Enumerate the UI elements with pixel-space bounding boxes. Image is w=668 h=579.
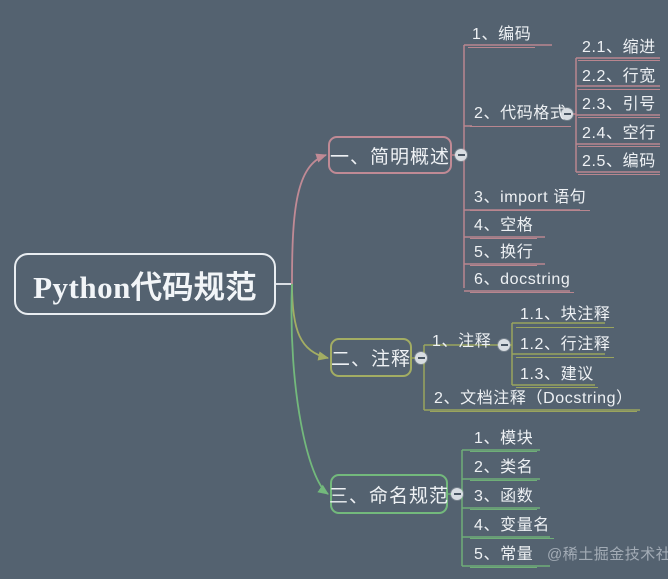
leaf-b3-1[interactable]: 1、模块 xyxy=(470,430,537,452)
leaf-b2-1-3[interactable]: 1.3、建议 xyxy=(516,366,598,388)
mindmap-canvas[interactable]: Python代码规范 一、简明概述 1、编码 2、代码格式 2.1、缩进 2.2… xyxy=(0,0,668,579)
collapse-toggle-b2-1[interactable] xyxy=(498,339,510,351)
leaf-b1-2-1[interactable]: 2.1、缩进 xyxy=(578,39,660,61)
collapse-toggle-branch-3[interactable] xyxy=(451,488,463,500)
leaf-b1-2-2[interactable]: 2.2、行宽 xyxy=(578,68,660,90)
branch-node-1-label: 一、简明概述 xyxy=(330,142,450,169)
leaf-b1-5[interactable]: 5、换行 xyxy=(470,244,537,266)
collapse-toggle-branch-1[interactable] xyxy=(455,149,467,161)
leaf-b2-1[interactable]: 1、注释 xyxy=(428,333,495,355)
leaf-b1-3[interactable]: 3、import 语句 xyxy=(470,189,590,211)
leaf-b2-1-2[interactable]: 1.2、行注释 xyxy=(516,336,614,358)
connector-root-to-branch-1 xyxy=(292,155,326,284)
leaf-b2-1-1[interactable]: 1.1、块注释 xyxy=(516,306,614,328)
leaf-b1-2-4[interactable]: 2.4、空行 xyxy=(578,125,660,147)
leaf-b2-2[interactable]: 2、文档注释（Docstring） xyxy=(430,390,637,412)
root-node[interactable]: Python代码规范 xyxy=(14,253,276,315)
leaf-b1-4[interactable]: 4、空格 xyxy=(470,217,537,239)
leaf-b1-2[interactable]: 2、代码格式 xyxy=(470,105,571,127)
leaf-b3-5[interactable]: 5、常量 xyxy=(470,546,537,568)
branch-node-2[interactable]: 二、注释 xyxy=(330,338,412,377)
connector-root-to-branch-3 xyxy=(291,284,328,494)
connector-root-to-branch-2 xyxy=(292,284,328,358)
leaf-b1-1[interactable]: 1、编码 xyxy=(468,26,535,48)
branch-node-3-label: 三、命名规范 xyxy=(329,481,449,508)
branch-node-2-label: 二、注释 xyxy=(331,344,411,371)
collapse-toggle-b1-2[interactable] xyxy=(561,108,573,120)
leaf-b3-3[interactable]: 3、函数 xyxy=(470,488,537,510)
leaf-b3-2[interactable]: 2、类名 xyxy=(470,459,537,481)
leaf-b1-2-3[interactable]: 2.3、引号 xyxy=(578,96,660,118)
leaf-b1-2-5[interactable]: 2.5、编码 xyxy=(578,153,660,175)
root-node-label: Python代码规范 xyxy=(33,262,257,307)
leaf-b3-4[interactable]: 4、变量名 xyxy=(470,517,554,539)
branch-node-3[interactable]: 三、命名规范 xyxy=(330,474,448,514)
collapse-toggle-branch-2[interactable] xyxy=(415,352,427,364)
branch-node-1[interactable]: 一、简明概述 xyxy=(328,136,452,174)
leaf-b1-6[interactable]: 6、docstring xyxy=(470,271,574,293)
watermark: @稀土掘金技术社区 xyxy=(547,543,668,564)
